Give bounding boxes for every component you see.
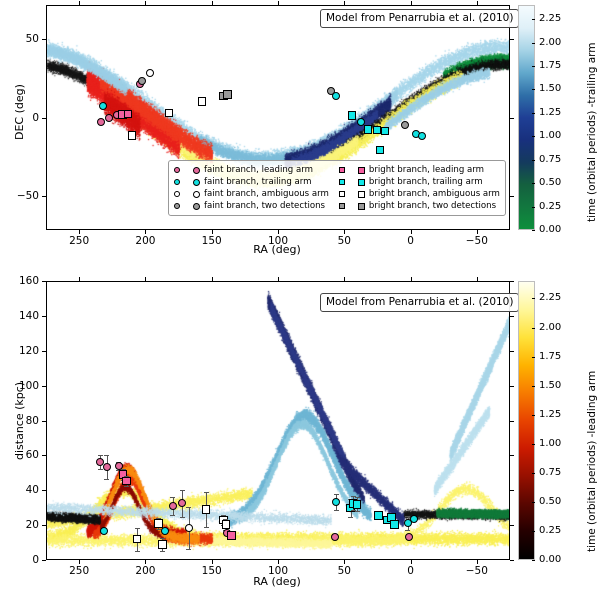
colorbar-tick-mark [532,473,535,474]
data-point-bright-leading[interactable] [124,110,133,119]
y-tick-mark-right [510,316,514,317]
colorbar-tick-label: 1.00 [539,439,561,449]
legend-marker-bright-ambiguous [339,191,365,198]
circle-marker-icon [174,167,180,173]
error-bar-cap [355,511,360,512]
x-tick-mark-top [212,277,213,281]
x-tick-mark-top [145,1,146,5]
legend-label: bright branch, two detections [369,202,496,211]
y-tick-label: 40 [6,485,39,496]
x-tick-mark [79,560,80,564]
colorbar-tick-mark [532,531,535,532]
legend-label: bright branch, ambiguous arm [369,190,500,199]
data-point-faint-leading[interactable] [169,502,177,510]
colorbar-tick-mark [532,502,535,503]
error-bar-cap [334,510,339,511]
top-panel-y-axis-label: DEC (deg) [13,84,26,140]
error-bar-cap [348,517,353,518]
bottom-panel-y-axis-label: distance (kpc) [13,382,26,460]
colorbar-tick-label: 0.75 [539,155,561,165]
data-point-bright-trailing[interactable] [381,127,390,136]
x-tick-mark [145,230,146,234]
y-tick-mark-right [510,196,514,197]
x-tick-mark [477,560,478,564]
error-bar-cap [355,497,360,498]
colorbar-tick-label: 0.25 [539,202,561,212]
y-tick-mark [42,351,46,352]
y-tick-mark [42,386,46,387]
colorbar-tick-mark [532,89,535,90]
error-bar-cap [204,492,209,493]
x-tick-mark-top [411,277,412,281]
data-point-faint-two[interactable] [401,121,409,129]
colorbar-tick-label: 0.75 [539,468,561,478]
y-tick-mark [42,316,46,317]
colorbar-tick-label: 2.25 [539,293,561,303]
legend-entry-bright-two[interactable]: bright branch, two detections [339,200,500,212]
legend-label: bright branch, leading arm [369,166,484,175]
top-panel: 250200150100500−50 500−50 RA (deg) DEC (… [0,0,600,260]
x-tick-mark-top [411,1,412,5]
bottom-panel-annotation: Model from Penarrubia et al. (2010) [320,293,519,312]
legend-entry-bright-leading[interactable]: bright branch, leading arm [339,164,500,176]
y-tick-mark [42,281,46,282]
error-bar-cap [98,455,103,456]
data-point-bright-ambiguous[interactable] [154,519,163,528]
x-tick-mark-top [477,1,478,5]
data-point-bright-ambiguous[interactable] [202,505,211,514]
colorbar-tick-mark [532,113,535,114]
bottom-panel-scatter-canvas [47,282,509,559]
legend-entry-faint-two[interactable]: faint branch, two detections [174,200,329,212]
y-tick-mark-right [510,490,514,491]
data-point-faint-trailing[interactable] [99,102,107,110]
error-bar-cap [135,551,140,552]
legend-marker-faint-two [174,203,200,210]
legend-label: faint branch, leading arm [204,166,313,175]
y-tick-mark [42,39,46,40]
colorbar-tick-mark [532,183,535,184]
x-tick-mark [344,560,345,564]
bottom-panel-axes[interactable] [46,281,510,560]
colorbar-tick-label: 0.25 [539,526,561,536]
data-point-bright-leading[interactable] [122,477,131,486]
data-point-faint-leading[interactable] [105,114,113,122]
square-marker-icon [339,203,345,209]
data-point-faint-two[interactable] [327,87,335,95]
data-point-bright-trailing[interactable] [390,520,399,529]
legend-label: faint branch, ambiguous arm [204,190,329,199]
x-tick-mark [278,230,279,234]
circle-marker-icon [174,191,180,197]
square-marker-icon [358,167,365,174]
circle-marker-icon [174,203,180,209]
x-tick-mark [344,230,345,234]
legend-marker-faint-ambiguous [174,191,200,198]
error-bar-cap [405,530,410,531]
x-tick-mark [411,560,412,564]
data-point-bright-trailing[interactable] [364,125,373,134]
data-point-bright-ambiguous[interactable] [128,131,137,140]
data-point-faint-leading[interactable] [103,463,111,471]
x-tick-mark [145,560,146,564]
top-panel-annotation: Model from Penarrubia et al. (2010) [320,9,519,28]
y-tick-label: 0 [6,555,39,566]
circle-marker-icon [193,167,200,174]
colorbar-tick-mark [532,444,535,445]
error-bar-cap [160,551,165,552]
top-panel-x-axis-label: RA (deg) [46,243,508,256]
data-point-bright-trailing[interactable] [348,111,357,120]
x-tick-mark-top [79,277,80,281]
legend-marker-faint-leading [174,167,200,174]
colorbar-tick-mark [532,207,535,208]
colorbar-tick-mark [532,160,535,161]
x-tick-mark-top [212,1,213,5]
colorbar-tick-mark [532,415,535,416]
y-tick-mark [42,196,46,197]
legend-label: faint branch, two detections [204,202,325,211]
bottom-panel-colorbar-label: time (orbital periods) -leading arm [586,371,598,552]
top-panel-colorbar-label: time (orbital periods) -trailing arm [586,43,598,223]
colorbar-tick-label: 0.50 [539,497,561,507]
legend-entry-bright-trailing[interactable]: bright branch, trailing arm [339,176,500,188]
y-tick-mark-right [510,351,514,352]
colorbar-tick-mark [532,66,535,67]
x-tick-mark-top [278,277,279,281]
colorbar-tick-label: 1.50 [539,381,561,391]
y-tick-mark [42,525,46,526]
colorbar-tick-label: 0.00 [539,555,561,565]
error-bar-cap [334,494,339,495]
colorbar-tick-label: 1.00 [539,131,561,141]
error-bar-cap [170,497,175,498]
data-point-bright-ambiguous[interactable] [165,109,174,118]
legend-entry-faint-trailing[interactable]: faint branch, trailing arm [174,176,329,188]
error-bar-cap [180,517,185,518]
data-point-bright-trailing[interactable] [374,511,383,520]
error-bar-cap [186,549,191,550]
data-point-faint-ambiguous[interactable] [185,524,193,532]
y-tick-mark [42,118,46,119]
colorbar-tick-mark [532,298,535,299]
legend-entry-faint-ambiguous[interactable]: faint branch, ambiguous arm [174,188,329,200]
colorbar-tick-label: 0.00 [539,225,561,235]
x-tick-mark-top [344,277,345,281]
circle-marker-icon [193,191,200,198]
legend-label: faint branch, trailing arm [204,178,312,187]
y-tick-mark-right [510,281,514,282]
colorbar-tick-mark [532,19,535,20]
error-bar-cap [104,479,109,480]
x-tick-mark [411,230,412,234]
y-tick-label: 120 [6,346,39,357]
data-point-bright-ambiguous[interactable] [222,520,231,529]
colorbar-tick-mark [532,386,535,387]
colorbar-tick-label: 0.50 [539,178,561,188]
y-tick-mark-right [510,455,514,456]
data-point-bright-ambiguous[interactable] [158,540,167,549]
error-bar-cap [204,527,209,528]
error-bar-cap [186,507,191,508]
x-tick-mark-top [145,277,146,281]
error-bar-cap [160,538,165,539]
y-tick-mark-right [510,525,514,526]
x-tick-mark [477,230,478,234]
y-tick-mark-right [510,386,514,387]
bottom-panel-colorbar[interactable] [518,281,535,560]
y-tick-mark [42,490,46,491]
error-bar-cap [180,490,185,491]
circle-marker-icon [174,179,180,185]
colorbar-tick-label: 1.75 [539,352,561,362]
data-point-bright-trailing[interactable] [376,146,385,155]
error-bar-cap [135,528,140,529]
error-bar-cap [170,515,175,516]
x-tick-mark [212,230,213,234]
colorbar-tick-label: 2.00 [539,323,561,333]
square-marker-icon [339,191,345,197]
colorbar-tick-mark [532,560,535,561]
legend-marker-bright-leading [339,167,365,174]
y-tick-label: 20 [6,520,39,531]
data-point-bright-two[interactable] [223,90,232,99]
y-tick-label: 160 [6,276,39,287]
y-tick-mark-right [510,560,514,561]
top-panel-legend: faint branch, leading armbright branch, … [168,160,506,216]
colorbar-tick-mark [532,328,535,329]
data-point-bright-ambiguous[interactable] [198,97,207,106]
figure-canvas: 250200150100500−50 500−50 RA (deg) DEC (… [0,0,600,600]
y-tick-mark-right [510,118,514,119]
legend-marker-faint-trailing [174,179,200,186]
data-point-bright-leading[interactable] [227,531,236,540]
y-tick-mark [42,421,46,422]
data-point-bright-trailing[interactable] [353,500,362,509]
colorbar-tick-label: 1.25 [539,410,561,420]
legend-entry-bright-ambiguous[interactable]: bright branch, ambiguous arm [339,188,500,200]
top-panel-colorbar[interactable] [518,5,535,230]
colorbar-tick-mark [532,357,535,358]
square-marker-icon [358,203,365,210]
error-bar-cap [104,455,109,456]
x-tick-mark-top [79,1,80,5]
y-tick-mark-right [510,421,514,422]
colorbar-tick-mark [532,136,535,137]
data-point-bright-ambiguous[interactable] [133,535,142,544]
x-tick-mark [79,230,80,234]
x-tick-mark-top [278,1,279,5]
colorbar-tick-label: 2.25 [539,14,561,24]
legend-label: bright branch, trailing arm [369,178,483,187]
square-marker-icon [358,191,365,198]
y-tick-label: 50 [6,34,39,45]
colorbar-tick-mark [532,230,535,231]
colorbar-tick-mark [532,43,535,44]
square-marker-icon [339,179,345,185]
colorbar-tick-label: 1.25 [539,108,561,118]
x-tick-mark-top [344,1,345,5]
y-tick-mark-right [510,39,514,40]
bottom-panel: 250200150100500−50 020406080100120140160… [0,260,600,600]
circle-marker-icon [193,203,200,210]
x-tick-mark [278,560,279,564]
colorbar-tick-label: 1.75 [539,61,561,71]
x-tick-mark [212,560,213,564]
y-tick-mark [42,560,46,561]
data-point-faint-trailing[interactable] [332,498,340,506]
legend-entry-faint-leading[interactable]: faint branch, leading arm [174,164,329,176]
y-tick-label: −50 [6,191,39,202]
square-marker-icon [358,179,365,186]
error-bar-cap [124,486,129,487]
error-bar-cap [98,469,103,470]
legend-marker-bright-two [339,203,365,210]
colorbar-tick-label: 1.50 [539,84,561,94]
x-tick-mark-top [477,277,478,281]
y-tick-label: 140 [6,311,39,322]
y-tick-mark [42,455,46,456]
colorbar-tick-label: 2.00 [539,38,561,48]
square-marker-icon [339,167,345,173]
bottom-panel-x-axis-label: RA (deg) [46,575,508,588]
legend-marker-bright-trailing [339,179,365,186]
circle-marker-icon [193,179,200,186]
